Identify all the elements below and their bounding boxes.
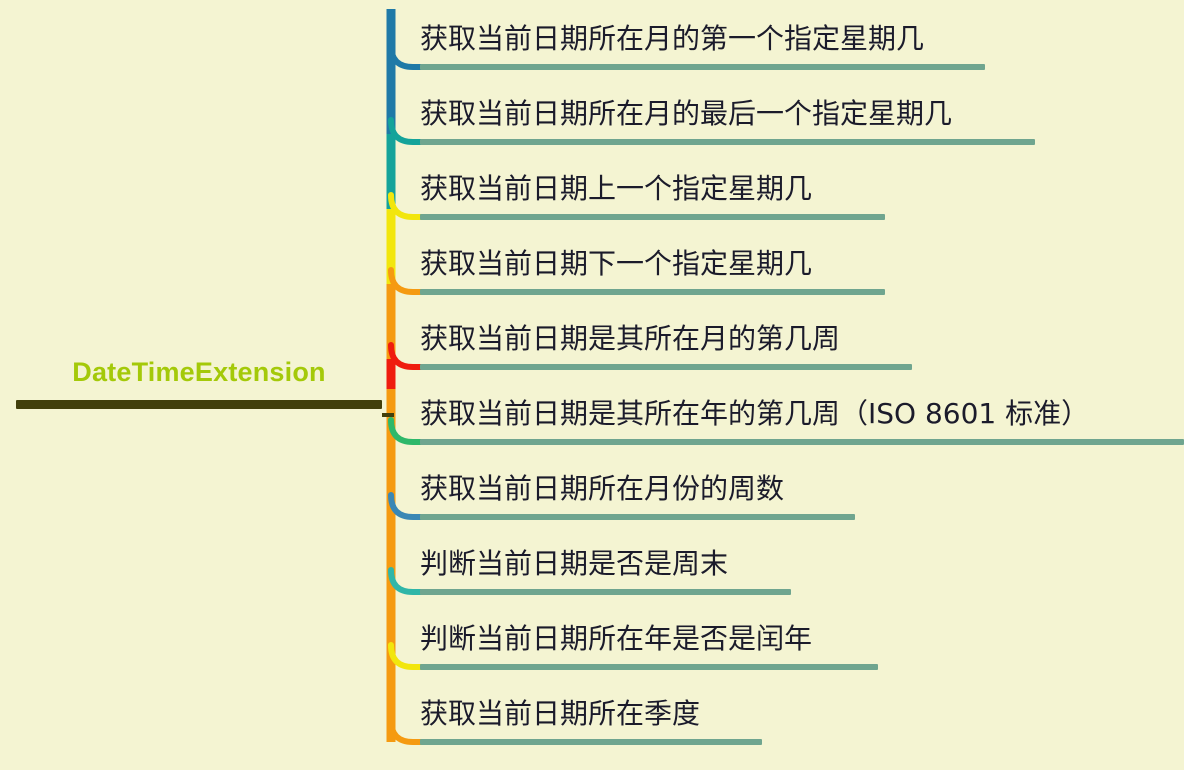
branch-node[interactable]: 获取当前日期下一个指定星期几 <box>420 247 885 295</box>
branch-node-underline <box>420 364 912 370</box>
branch-node-label: 获取当前日期所在月份的周数 <box>420 472 855 506</box>
branch-node-label: 判断当前日期是否是周末 <box>420 547 791 581</box>
branch-connector <box>391 720 423 742</box>
branch-node[interactable]: 获取当前日期所在月的最后一个指定星期几 <box>420 97 1035 145</box>
branch-node-underline <box>420 64 985 70</box>
branch-node-underline <box>420 139 1035 145</box>
branch-connector <box>391 645 423 667</box>
root-node-underline <box>16 400 382 409</box>
branch-node-underline <box>420 514 855 520</box>
branch-node[interactable]: 获取当前日期上一个指定星期几 <box>420 172 885 220</box>
branch-node[interactable]: 获取当前日期所在月份的周数 <box>420 472 855 520</box>
branch-node-underline <box>420 439 1184 445</box>
branch-node-label: 判断当前日期所在年是否是闰年 <box>420 622 878 656</box>
branch-connector <box>391 495 423 517</box>
branch-node[interactable]: 判断当前日期是否是周末 <box>420 547 791 595</box>
branch-node-underline <box>420 664 878 670</box>
branch-connector <box>391 270 423 292</box>
branch-node[interactable]: 获取当前日期是其所在月的第几周 <box>420 322 912 370</box>
branch-node[interactable]: 获取当前日期所在季度 <box>420 697 762 745</box>
branch-node-label: 获取当前日期上一个指定星期几 <box>420 172 885 206</box>
branch-node-label: 获取当前日期所在季度 <box>420 697 762 731</box>
branch-node-label: 获取当前日期所在月的最后一个指定星期几 <box>420 97 1035 131</box>
branch-node-label: 获取当前日期是其所在月的第几周 <box>420 322 912 356</box>
branch-node-underline <box>420 739 762 745</box>
root-node[interactable]: DateTimeExtension <box>16 355 382 409</box>
branch-node[interactable]: 判断当前日期所在年是否是闰年 <box>420 622 878 670</box>
branch-connector <box>391 570 423 592</box>
branch-connector <box>391 345 423 367</box>
mindmap-canvas: DateTimeExtension 获取当前日期所在月的第一个指定星期几获取当前… <box>0 0 1184 770</box>
branch-node[interactable]: 获取当前日期所在月的第一个指定星期几 <box>420 22 985 70</box>
branch-node-underline <box>420 589 791 595</box>
root-node-label: DateTimeExtension <box>16 355 382 389</box>
branch-connector <box>391 120 423 142</box>
branch-node-label: 获取当前日期是其所在年的第几周（ISO 8601 标准） <box>420 397 1184 431</box>
branch-node-underline <box>420 289 885 295</box>
branch-connector <box>391 195 423 217</box>
branch-connector <box>391 420 423 442</box>
branch-node[interactable]: 获取当前日期是其所在年的第几周（ISO 8601 标准） <box>420 397 1184 445</box>
branch-node-label: 获取当前日期所在月的第一个指定星期几 <box>420 22 985 56</box>
branch-node-label: 获取当前日期下一个指定星期几 <box>420 247 885 281</box>
branch-connector <box>391 45 423 67</box>
branch-node-underline <box>420 214 885 220</box>
